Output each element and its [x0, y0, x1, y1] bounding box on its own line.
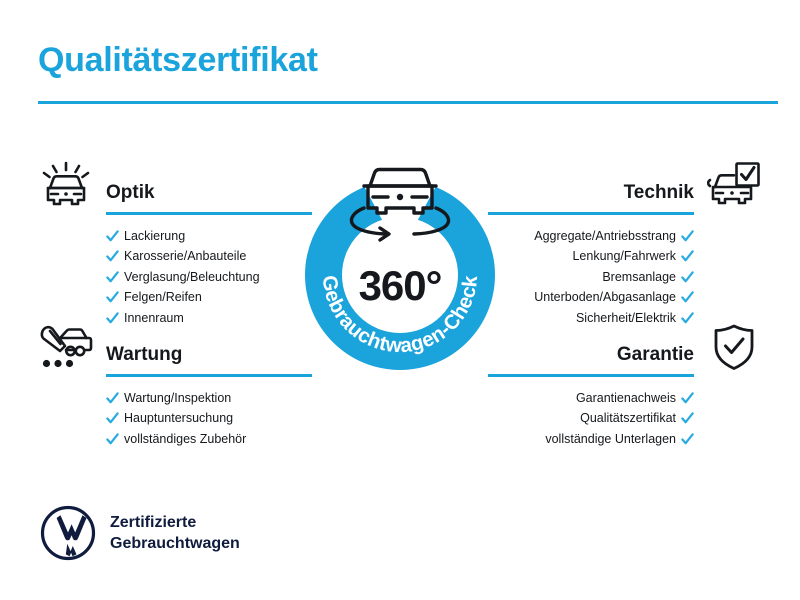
wrench-car-icon: [38, 322, 94, 372]
check-icon: [681, 392, 694, 405]
vw-logo: [40, 505, 96, 561]
check-icon: [681, 433, 694, 446]
check-icon: [681, 412, 694, 425]
list-item-label: Lackierung: [124, 227, 185, 247]
check-icon: [681, 271, 694, 284]
list-item-label: vollständiges Zubehör: [124, 430, 246, 450]
check-icon: [106, 271, 119, 284]
list-item-label: Garantienachweis: [576, 389, 676, 409]
list-item: vollständiges Zubehör: [106, 429, 338, 450]
list-item-label: Qualitätszertifikat: [580, 409, 676, 429]
vw-logo-line2: Gebrauchtwagen: [110, 533, 240, 554]
list-item-label: Verglasung/Beleuchtung: [124, 268, 260, 288]
list-item: Wartung/Inspektion: [106, 388, 338, 409]
page-title: Qualitätszertifikat: [38, 38, 318, 82]
list-item-label: Aggregate/Antriebsstrang: [534, 227, 676, 247]
section-title-optik: Optik: [106, 182, 155, 204]
list-item: Qualitätszertifikat: [462, 409, 694, 430]
section-divider-wartung: [106, 374, 312, 377]
check-icon: [106, 412, 119, 425]
certificate-page: Qualitätszertifikat Optik: [0, 0, 800, 600]
list-item: Garantienachweis: [462, 388, 694, 409]
checklist-wartung: Wartung/Inspektion Hauptuntersuchung vol…: [38, 388, 338, 450]
360-check-badge: Gebrauchtwagen-Check 360°: [292, 152, 508, 378]
car-shine-icon: [38, 160, 94, 210]
car-checkbox-icon: [706, 160, 762, 210]
check-icon: [106, 392, 119, 405]
list-item-label: Felgen/Reifen: [124, 288, 202, 308]
shield-check-icon: [706, 322, 762, 372]
list-item-label: Hauptuntersuchung: [124, 409, 233, 429]
vw-logo-text: Zertifizierte Gebrauchtwagen: [110, 512, 240, 554]
check-icon: [106, 230, 119, 243]
list-item-label: Lenkung/Fahrwerk: [572, 247, 676, 267]
check-icon: [106, 291, 119, 304]
check-icon: [106, 433, 119, 446]
checklist-garantie: Garantienachweis Qualitätszertifikat vol…: [462, 388, 762, 450]
list-item-label: vollständige Unterlagen: [545, 430, 676, 450]
check-icon: [681, 250, 694, 263]
list-item-label: Bremsanlage: [602, 268, 676, 288]
vw-certified-logo: Zertifizierte Gebrauchtwagen: [40, 505, 240, 561]
list-item-label: Wartung/Inspektion: [124, 389, 231, 409]
vw-logo-line1: Zertifizierte: [110, 512, 240, 533]
list-item-label: Unterboden/Abgasanlage: [534, 288, 676, 308]
section-title-technik: Technik: [624, 182, 694, 204]
list-item: Hauptuntersuchung: [106, 409, 338, 430]
badge-center-label: 360°: [292, 262, 508, 310]
check-icon: [681, 230, 694, 243]
list-item-label: Karosserie/Anbauteile: [124, 247, 246, 267]
section-title-garantie: Garantie: [617, 344, 694, 366]
section-title-wartung: Wartung: [106, 344, 182, 366]
header-divider: [38, 101, 778, 104]
section-divider-technik: [488, 212, 694, 215]
check-icon: [106, 250, 119, 263]
check-icon: [681, 291, 694, 304]
section-divider-optik: [106, 212, 312, 215]
list-item: vollständige Unterlagen: [462, 429, 694, 450]
section-divider-garantie: [488, 374, 694, 377]
